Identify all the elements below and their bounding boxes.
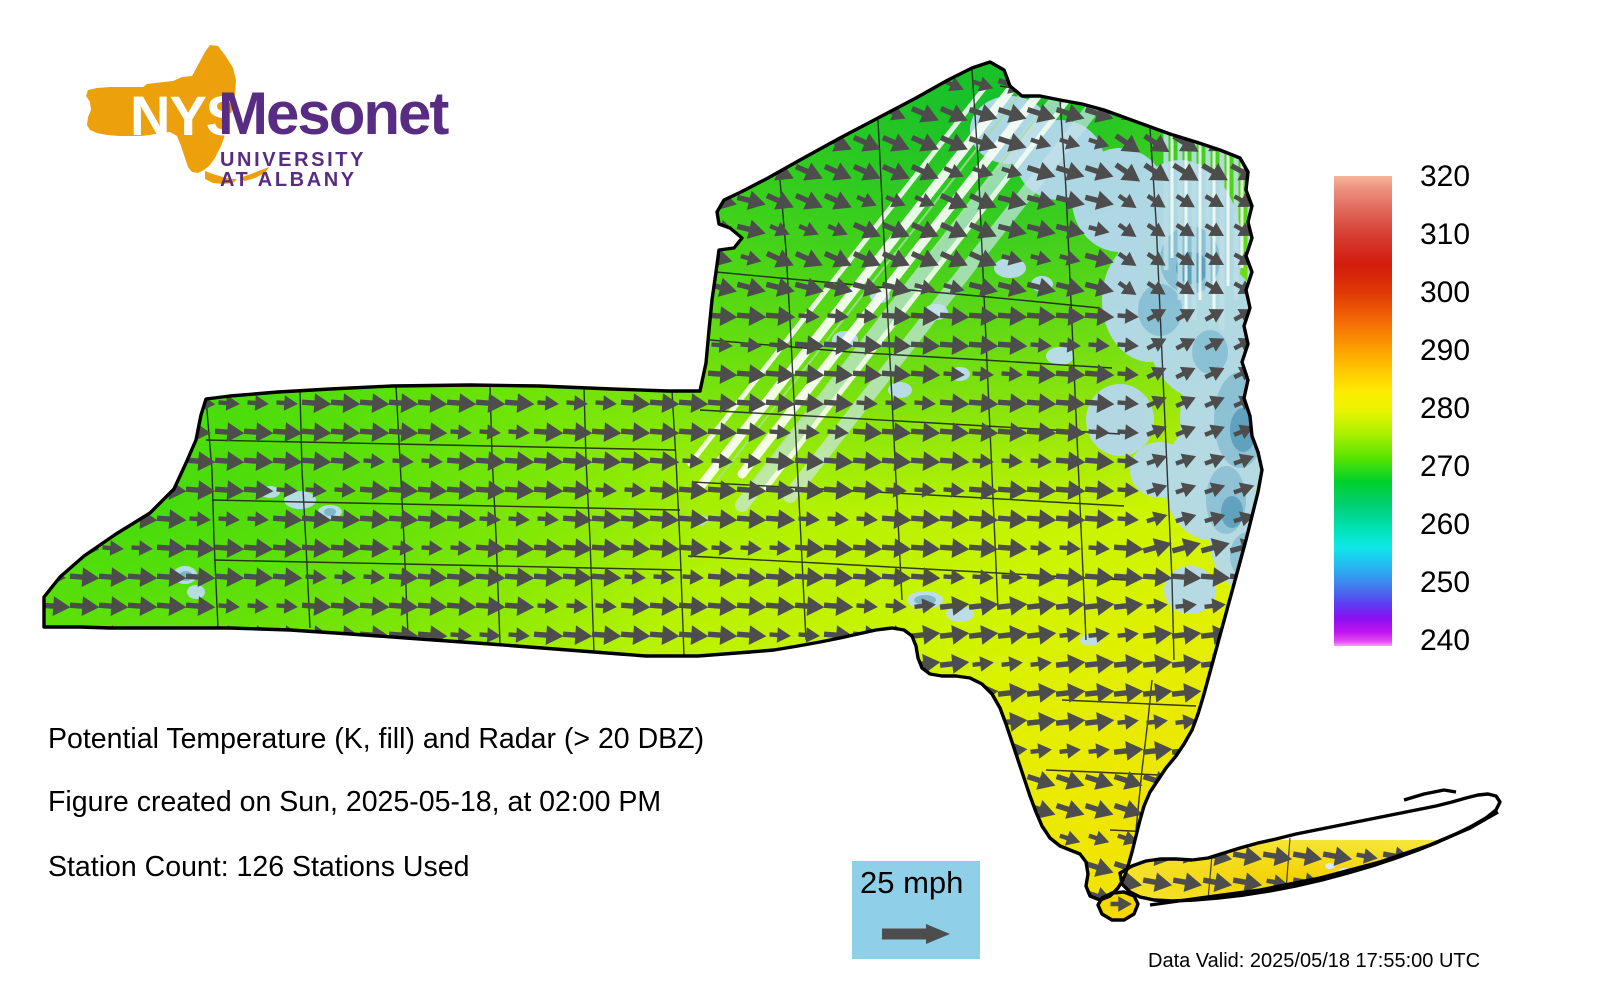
wind-arrow: [1084, 76, 1110, 93]
wind-arrow: [418, 368, 443, 380]
wind-arrow: [736, 76, 762, 92]
wind-arrow: [765, 801, 791, 818]
wind-arrow: [276, 890, 295, 903]
wind-arrow: [794, 859, 820, 876]
wind-arrow: [708, 716, 733, 728]
wind-arrow: [418, 310, 443, 322]
wind-arrow: [910, 772, 936, 789]
wind-arrow: [244, 339, 269, 351]
wind-arrow: [707, 801, 733, 818]
wind-arrow: [214, 888, 240, 905]
wind-arrow: [795, 658, 820, 670]
wind-arrow: [881, 75, 907, 94]
wind-arrow: [711, 659, 729, 668]
wind-arrow: [330, 250, 356, 266]
wind-arrow: [156, 163, 182, 179]
wind-arrow: [1259, 744, 1284, 757]
wind-arrow: [186, 339, 211, 351]
wind-arrow: [707, 163, 733, 179]
wind-arrow: [330, 888, 356, 905]
wind-arrow: [649, 250, 675, 266]
wind-arrow: [881, 830, 907, 847]
wind-arrow: [127, 888, 153, 905]
wind-arrow: [1259, 657, 1284, 670]
wind-arrow: [853, 658, 878, 670]
wind-arrow: [885, 803, 904, 816]
wind-arrow: [388, 221, 414, 237]
wind-arrow: [272, 250, 298, 266]
wind-arrow: [41, 629, 66, 641]
wind-arrow: [910, 830, 936, 847]
wind-arrow: [533, 163, 559, 179]
wind-arrow: [620, 859, 646, 876]
wind-arrow: [301, 192, 327, 208]
wind-arrow: [276, 281, 294, 293]
wind-arrow: [794, 888, 820, 905]
wind-arrow: [537, 107, 555, 119]
wind-arrow: [131, 136, 149, 148]
wind-arrow: [1382, 875, 1407, 889]
wind-arrow: [243, 279, 269, 295]
wind-arrow: [1230, 657, 1255, 670]
wind-arrow: [505, 658, 530, 670]
wind-arrow: [794, 75, 820, 94]
wind-arrow: [795, 687, 820, 699]
wind-arrow: [98, 76, 124, 92]
wind-arrow: [1229, 801, 1255, 818]
wind-arrow: [70, 513, 95, 525]
wind-arrow: [595, 281, 613, 293]
wind-arrow: [1026, 888, 1052, 905]
wind-arrow: [363, 774, 382, 787]
wind-arrow: [73, 369, 91, 378]
wind-arrow: [1258, 132, 1284, 152]
wind-arrow: [881, 772, 907, 789]
wind-arrow: [1262, 425, 1281, 439]
wind-arrow: [707, 105, 733, 121]
wind-arrow: [682, 659, 700, 668]
wind-arrow: [707, 888, 733, 905]
wind-arrow: [504, 830, 530, 847]
wind-arrow: [218, 107, 236, 119]
wind-arrow: [215, 629, 240, 641]
wind-arrow: [215, 658, 240, 670]
wind-arrow: [301, 250, 327, 266]
wind-arrow: [534, 687, 559, 699]
wind-arrow: [388, 192, 414, 208]
wind-arrow: [827, 717, 845, 726]
wind-arrow: [1262, 308, 1281, 323]
wind-arrow: [620, 221, 646, 237]
wind-arrow: [330, 105, 356, 121]
wind-arrow: [682, 369, 700, 378]
wind-arrow: [446, 888, 472, 905]
wind-arrow: [128, 310, 153, 322]
wind-arrow: [852, 830, 878, 847]
wind-arrow: [334, 369, 352, 378]
wind-arrow: [243, 250, 269, 266]
wind-arrow: [1472, 849, 1497, 863]
wind-arrow: [682, 252, 700, 264]
wind-arrow: [1201, 744, 1226, 757]
wind-arrow: [243, 76, 269, 92]
wind-arrow: [41, 426, 66, 438]
wind-arrow: [127, 192, 153, 208]
wind-arrow: [853, 687, 878, 699]
wind-arrow: [98, 221, 124, 237]
wind-arrow: [363, 369, 381, 378]
wind-arrow: [595, 78, 613, 90]
wind-arrow: [1262, 572, 1280, 581]
wind-arrow: [247, 107, 265, 119]
wind-arrow: [534, 339, 559, 351]
wind-arrow: [997, 772, 1023, 789]
wind-arrow: [504, 134, 530, 150]
wind-arrow: [214, 221, 240, 237]
wind-arrow: [769, 832, 788, 845]
wind-arrow: [446, 279, 472, 295]
wind-arrow: [534, 658, 559, 670]
wind-arrow: [504, 163, 530, 179]
wind-arrow: [247, 311, 265, 320]
wind-arrow: [185, 888, 211, 905]
wind-arrow: [533, 221, 559, 237]
wind-arrow: [334, 78, 352, 90]
wind-arrow: [388, 76, 414, 92]
wind-arrow: [160, 630, 178, 639]
wind-scale-arrow-icon: [880, 919, 956, 949]
wind-arrow: [707, 76, 733, 92]
wind-arrow: [272, 134, 298, 150]
wind-arrow: [44, 456, 62, 465]
wind-arrow: [331, 310, 356, 322]
wind-arrow: [621, 310, 646, 322]
wind-arrow: [1146, 803, 1165, 816]
wind-arrow: [128, 658, 153, 670]
wind-arrow: [69, 830, 95, 847]
wind-arrow: [334, 281, 352, 293]
wind-arrow: [127, 105, 153, 121]
wind-arrow: [508, 223, 526, 235]
wind-arrow: [446, 163, 472, 179]
wind-arrow: [653, 78, 671, 90]
wind-arrow: [417, 76, 443, 92]
wind-arrow: [653, 165, 671, 177]
wind-arrow: [44, 369, 62, 378]
wind-arrow: [69, 888, 95, 905]
wind-arrow: [156, 105, 182, 121]
wind-arrow: [1262, 164, 1281, 179]
wind-arrow: [624, 165, 642, 177]
wind-arrow: [160, 136, 178, 148]
wind-arrow: [243, 221, 269, 237]
wind-arrow: [214, 250, 240, 266]
wind-arrow: [968, 830, 994, 847]
wind-arrow: [272, 105, 298, 121]
wind-arrow: [533, 250, 559, 266]
wind-arrow: [504, 76, 530, 92]
wind-arrow: [823, 830, 849, 847]
wind-arrow: [331, 339, 356, 351]
wind-arrow: [73, 659, 91, 668]
wind-arrow: [40, 76, 66, 92]
wind-arrow: [766, 658, 791, 670]
wind-arrow: [157, 455, 182, 467]
wind-arrow: [189, 311, 207, 320]
wind-arrow: [99, 397, 124, 409]
wind-arrow: [273, 368, 298, 380]
wind-arrow: [417, 192, 443, 208]
wind-arrow: [99, 687, 124, 699]
wind-arrow: [127, 250, 153, 266]
wind-arrow: [476, 368, 501, 380]
wind-arrow: [98, 105, 124, 121]
wind-arrow: [214, 134, 240, 150]
wind-arrow: [186, 368, 211, 380]
wind-arrow: [421, 136, 439, 148]
wind-arrow: [73, 456, 91, 465]
wind-arrow: [798, 832, 817, 845]
wind-arrow: [969, 744, 994, 757]
wind-arrow: [475, 76, 501, 92]
wind-arrow: [649, 134, 675, 150]
wind-arrow: [450, 832, 469, 845]
wind-arrow: [621, 339, 646, 351]
wind-arrow: [1230, 715, 1255, 728]
wind-arrow: [157, 310, 182, 322]
wind-arrow: [185, 163, 211, 179]
wind-arrow: [41, 397, 66, 409]
wind-arrow: [1142, 74, 1168, 96]
wind-arrow: [447, 658, 472, 670]
wind-arrow: [305, 281, 323, 293]
wind-arrow: [160, 427, 178, 436]
wind-arrow: [1171, 830, 1197, 847]
wind-arrow: [765, 104, 791, 123]
wind-arrow: [388, 830, 414, 847]
wind-arrow: [1259, 715, 1284, 728]
wind-arrow: [595, 194, 613, 206]
wind-arrow: [98, 163, 124, 179]
wind-arrow: [98, 830, 124, 847]
wind-arrow: [243, 134, 269, 150]
wind-arrow: [131, 630, 149, 639]
wind-arrow: [73, 252, 91, 264]
wind-arrow: [566, 688, 584, 697]
wind-arrow: [1146, 106, 1165, 122]
wind-arrow: [389, 310, 414, 322]
wind-arrow: [273, 310, 298, 322]
wind-arrow: [1258, 801, 1284, 818]
colorbar: 320 310 300 290 280 270 260 250 240: [1334, 176, 1392, 646]
wind-arrow: [562, 134, 588, 150]
data-valid-stamp: Data Valid: 2025/05/18 17:55:00 UTC: [1148, 950, 1480, 973]
wind-arrow: [334, 774, 353, 787]
wind-arrow: [533, 888, 559, 905]
wind-arrow: [766, 716, 791, 728]
wind-arrow: [128, 397, 153, 409]
wind-arrow: [737, 716, 762, 728]
wind-arrow: [156, 888, 182, 905]
wind-arrow: [102, 659, 120, 668]
wind-arrow: [450, 223, 468, 235]
weather-map-figure: NYS Mesonet UNIVERSITY AT ALBANY: [0, 0, 1600, 1000]
wind-arrow: [736, 105, 762, 121]
wind-arrow: [679, 687, 704, 699]
wind-arrow: [185, 76, 211, 92]
wind-arrow: [537, 194, 555, 206]
colorbar-tick-290: 290: [1420, 336, 1470, 366]
wind-arrow: [678, 76, 704, 92]
wind-arrow: [102, 136, 120, 148]
colorbar-tick-280: 280: [1420, 394, 1470, 424]
wind-arrow: [885, 688, 903, 697]
wind-arrow: [798, 717, 816, 726]
wind-arrow: [272, 221, 298, 237]
colorbar-tick-300: 300: [1420, 278, 1470, 308]
wind-arrow: [185, 192, 211, 208]
wind-arrow: [592, 658, 617, 670]
wind-arrow: [99, 310, 124, 322]
wind-arrow: [73, 165, 91, 177]
wind-arrow: [566, 890, 585, 903]
wind-arrow: [475, 192, 501, 208]
wind-arrow: [392, 252, 410, 264]
wind-arrow: [940, 744, 965, 757]
wind-arrow: [566, 194, 584, 206]
wind-arrow: [244, 368, 269, 380]
wind-arrow: [272, 830, 298, 847]
wind-arrow: [302, 339, 327, 351]
wind-arrow: [186, 687, 211, 699]
wind-arrow-field: [40, 73, 1284, 905]
wind-arrow: [707, 830, 733, 847]
wind-arrow: [69, 279, 95, 295]
wind-arrow: [997, 830, 1023, 847]
wind-arrow: [331, 687, 356, 699]
wind-arrow: [1259, 599, 1284, 612]
wind-arrow: [678, 801, 704, 818]
wind-arrow: [856, 717, 874, 726]
wind-arrow: [624, 369, 642, 378]
wind-arrow: [476, 310, 501, 322]
wind-arrow: [1175, 106, 1194, 122]
wind-arrow: [708, 687, 733, 699]
wind-arrow: [534, 368, 559, 380]
wind-arrow: [131, 832, 150, 845]
wind-arrow: [417, 105, 443, 121]
wind-arrow: [566, 107, 584, 119]
wind-arrow: [41, 310, 66, 322]
wind-arrow: [447, 310, 472, 322]
wind-arrow: [479, 136, 497, 148]
wind-arrow: [882, 658, 907, 670]
wind-arrow: [595, 890, 614, 903]
colorbar-tick-240: 240: [1420, 626, 1470, 656]
wind-arrow: [40, 279, 66, 295]
wind-arrow: [940, 715, 965, 728]
wind-arrow: [389, 368, 414, 380]
wind-arrow: [504, 279, 530, 295]
wind-arrow: [273, 658, 298, 670]
wind-arrow: [679, 310, 704, 322]
wind-arrow: [769, 135, 788, 149]
wind-arrow: [69, 76, 95, 92]
wind-arrow: [475, 105, 501, 121]
wind-arrow: [127, 76, 153, 92]
wind-arrow: [1230, 744, 1255, 757]
wind-arrow: [592, 310, 617, 322]
wind-arrow: [650, 687, 675, 699]
wind-arrow: [479, 223, 497, 235]
wind-arrow: [1175, 803, 1194, 816]
wind-arrow: [41, 513, 66, 525]
colorbar-tick-270: 270: [1420, 452, 1470, 482]
wind-arrow: [40, 221, 66, 237]
wind-arrow: [421, 252, 439, 264]
wind-arrow: [446, 250, 472, 266]
wind-arrow: [417, 830, 443, 847]
wind-arrow: [243, 163, 269, 179]
wind-arrow: [214, 830, 240, 847]
wind-arrow: [363, 165, 381, 177]
wind-arrow: [131, 223, 149, 235]
wind-arrow: [40, 192, 66, 208]
wind-arrow: [852, 772, 878, 789]
wind-arrow: [740, 746, 758, 755]
wind-arrow: [765, 75, 791, 94]
wind-arrow: [504, 250, 530, 266]
wind-arrow: [301, 830, 327, 847]
wind-arrow: [911, 715, 936, 728]
wind-arrow: [185, 279, 211, 295]
wind-arrow: [392, 165, 410, 177]
wind-arrow: [69, 105, 95, 121]
wind-arrow: [1230, 599, 1255, 612]
wind-arrow: [1030, 861, 1049, 874]
wind-arrow: [682, 165, 700, 177]
wind-arrow: [475, 250, 501, 266]
wind-arrow: [215, 687, 240, 699]
wind-arrow: [533, 830, 559, 847]
wind-arrow: [214, 76, 240, 92]
wind-arrow: [98, 279, 124, 295]
colorbar-tick-260: 260: [1420, 510, 1470, 540]
wind-arrow: [711, 746, 729, 755]
wind-arrow: [911, 744, 936, 757]
wind-arrow: [1200, 772, 1226, 789]
wind-arrow: [215, 368, 240, 380]
wind-arrow: [305, 774, 324, 787]
wind-arrow: [624, 890, 643, 903]
wind-arrow: [827, 106, 846, 120]
wind-arrow: [1442, 849, 1467, 863]
wind-arrow: [562, 830, 588, 847]
wind-arrow: [214, 279, 240, 295]
wind-arrow: [1200, 74, 1226, 95]
wind-arrow: [736, 772, 762, 789]
wind-arrow: [392, 659, 410, 668]
wind-arrow: [740, 136, 758, 148]
wind-arrow: [276, 194, 294, 206]
wind-arrow: [98, 192, 124, 208]
wind-arrow: [736, 801, 762, 818]
wind-arrow: [508, 107, 526, 119]
wind-arrow: [649, 888, 675, 905]
wind-arrow: [99, 426, 124, 438]
wind-arrow: [707, 772, 733, 789]
wind-arrow: [765, 772, 791, 789]
